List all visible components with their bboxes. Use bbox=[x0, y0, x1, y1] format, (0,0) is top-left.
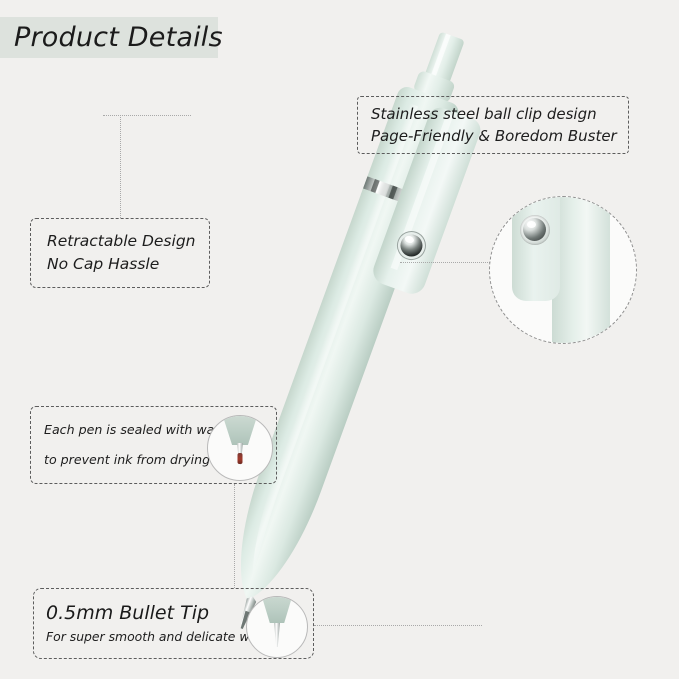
inset-ball-clip-closeup bbox=[489, 196, 637, 344]
product-details-infographic: Product Details bbox=[0, 0, 679, 679]
inset-bullet-tip-closeup bbox=[246, 596, 308, 658]
closeup-clip bbox=[512, 196, 560, 301]
callout-retractable-line2: No Cap Hassle bbox=[47, 253, 209, 276]
closeup-wax-ink bbox=[238, 453, 243, 464]
callout-clip-line2: Page-Friendly & Boredom Buster bbox=[371, 125, 628, 147]
closeup-wax-cone bbox=[218, 415, 262, 445]
inset-wax-seal-closeup bbox=[207, 415, 273, 481]
leader-line-retractable-vertical bbox=[120, 115, 121, 218]
closeup-tip-cone bbox=[257, 596, 297, 623]
leader-line-wax bbox=[234, 484, 235, 588]
callout-retractable-design: Retractable Design No Cap Hassle bbox=[30, 218, 210, 288]
callout-ball-clip: Stainless steel ball clip design Page-Fr… bbox=[357, 96, 629, 154]
closeup-barrel bbox=[552, 196, 610, 344]
callout-clip-line1: Stainless steel ball clip design bbox=[371, 103, 628, 125]
page-title: Product Details bbox=[14, 22, 223, 53]
callout-retractable-line1: Retractable Design bbox=[47, 230, 209, 253]
leader-line-retractable-horizontal bbox=[103, 115, 191, 116]
leader-line-clip bbox=[400, 262, 492, 263]
leader-line-bullet-tip bbox=[314, 625, 482, 626]
closeup-tip-needle bbox=[274, 623, 280, 647]
closeup-ball-glint bbox=[527, 221, 536, 228]
